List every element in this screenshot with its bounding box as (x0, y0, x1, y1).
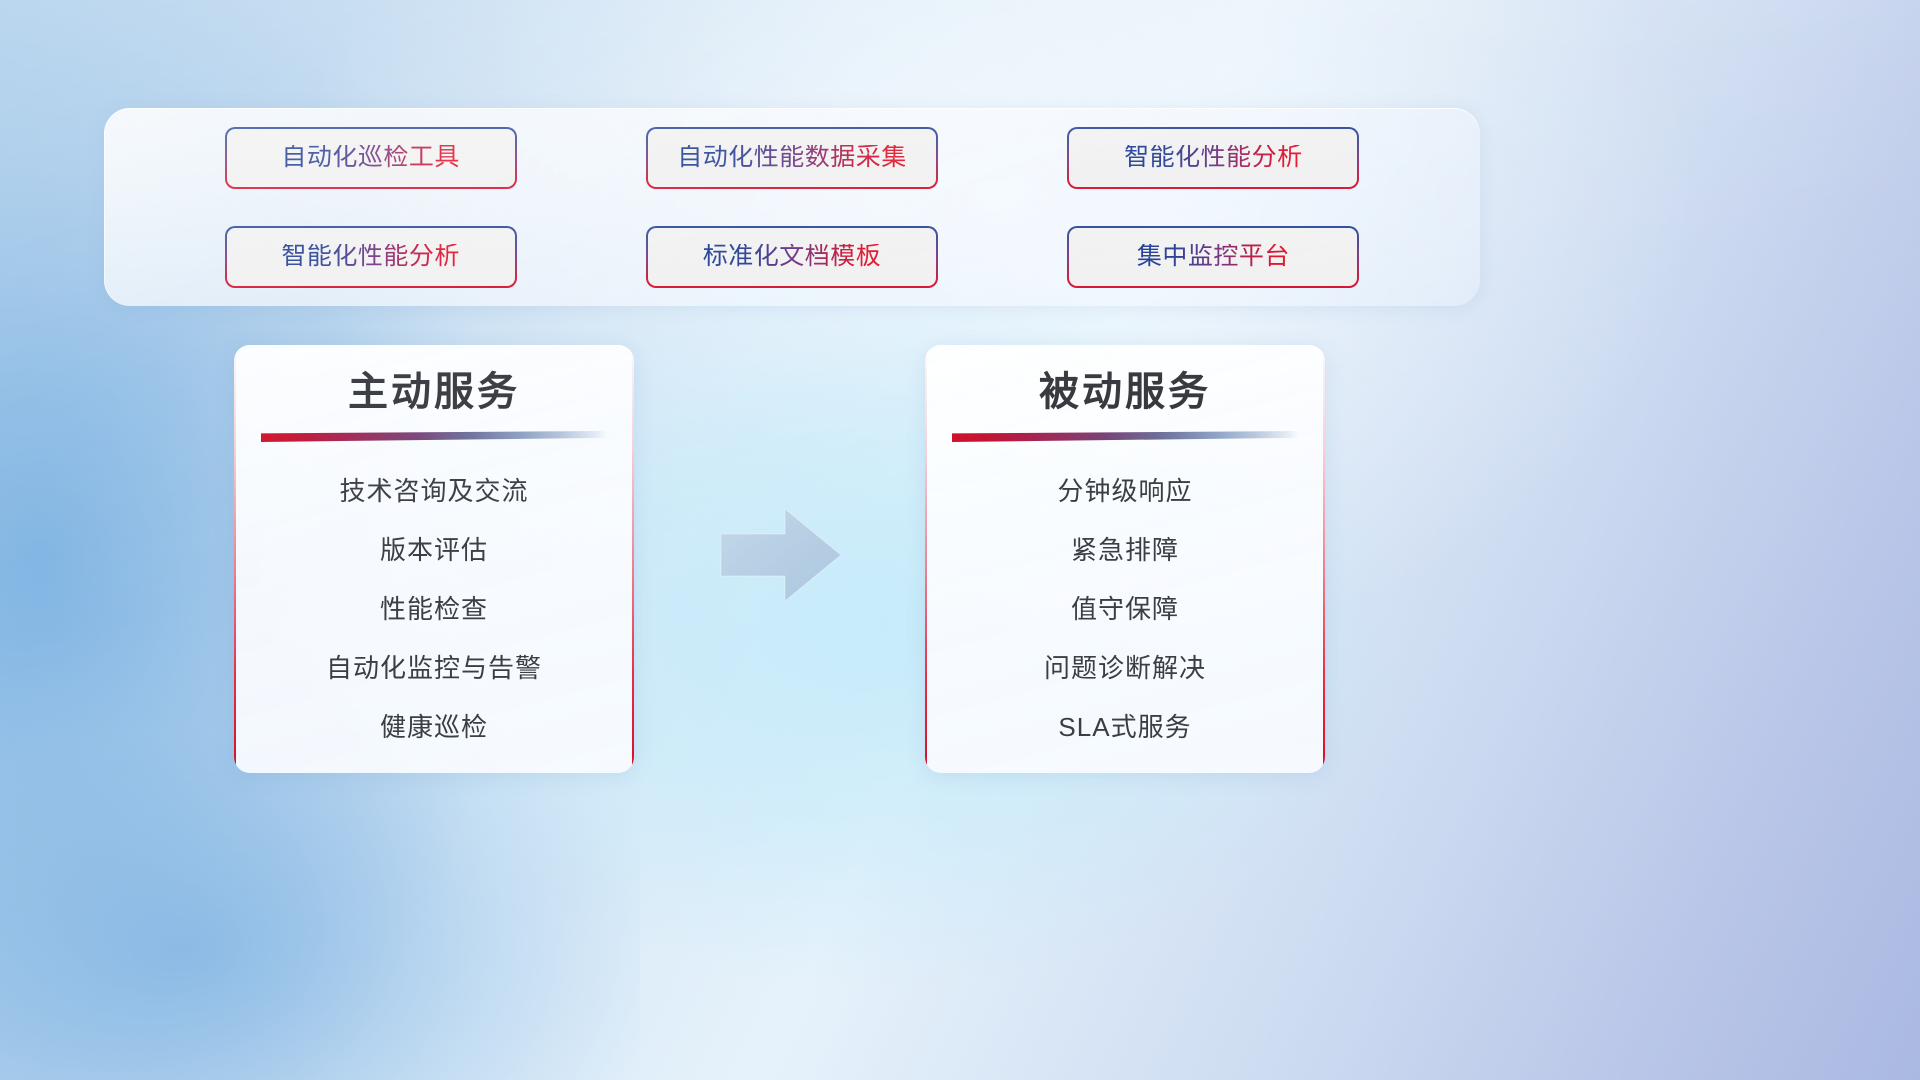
arrow-right-icon (713, 500, 849, 610)
list-item: 技术咨询及交流 (234, 478, 634, 504)
capability-pill-3[interactable]: 智能化性能分析 (1067, 127, 1359, 189)
list-item: 自动化监控与告警 (234, 655, 634, 681)
capability-panel: 自动化巡检工具 自动化性能数据采集 智能化性能分析 智能化性能分析 标准化文档模… (104, 108, 1480, 306)
list-item: 紧急排障 (925, 537, 1325, 563)
capability-pill-label: 标准化文档模板 (703, 244, 882, 269)
capability-pill-label: 智能化性能分析 (1124, 145, 1303, 170)
card-title-passive: 被动服务 (925, 367, 1325, 417)
card-divider-passive (952, 431, 1298, 442)
card-divider-active (261, 431, 607, 442)
service-card-active[interactable]: 主动服务 技术咨询及交流 版本评估 性能检查 自动化监控与告警 健康巡检 (234, 345, 634, 773)
capability-pill-label: 自动化性能数据采集 (677, 145, 907, 170)
gradient-bar-icon (261, 431, 607, 442)
card-item-list-passive: 分钟级响应 紧急排障 值守保障 问题诊断解决 SLA式服务 (925, 478, 1325, 740)
capability-pill-label: 集中监控平台 (1137, 244, 1290, 269)
list-item: 健康巡检 (234, 714, 634, 740)
gradient-bar-icon (952, 431, 1298, 442)
capability-pill-6[interactable]: 集中监控平台 (1067, 226, 1359, 288)
list-item: 问题诊断解决 (925, 655, 1325, 681)
list-item: 值守保障 (925, 596, 1325, 622)
card-item-list-active: 技术咨询及交流 版本评估 性能检查 自动化监控与告警 健康巡检 (234, 478, 634, 740)
capability-pill-4[interactable]: 智能化性能分析 (225, 226, 517, 288)
capability-pill-2[interactable]: 自动化性能数据采集 (646, 127, 938, 189)
capability-pill-label: 智能化性能分析 (281, 244, 460, 269)
list-item: 分钟级响应 (925, 478, 1325, 504)
service-card-passive[interactable]: 被动服务 分钟级响应 紧急排障 值守保障 问题诊断解决 SLA式服务 (925, 345, 1325, 773)
slide-canvas: 自动化巡检工具 自动化性能数据采集 智能化性能分析 智能化性能分析 标准化文档模… (0, 0, 1920, 1080)
list-item: 性能检查 (234, 596, 634, 622)
list-item: 版本评估 (234, 537, 634, 563)
card-title-active: 主动服务 (234, 367, 634, 417)
capability-pill-1[interactable]: 自动化巡检工具 (225, 127, 517, 189)
capability-pill-5[interactable]: 标准化文档模板 (646, 226, 938, 288)
capability-pill-label: 自动化巡检工具 (281, 145, 460, 170)
list-item: SLA式服务 (925, 714, 1325, 740)
